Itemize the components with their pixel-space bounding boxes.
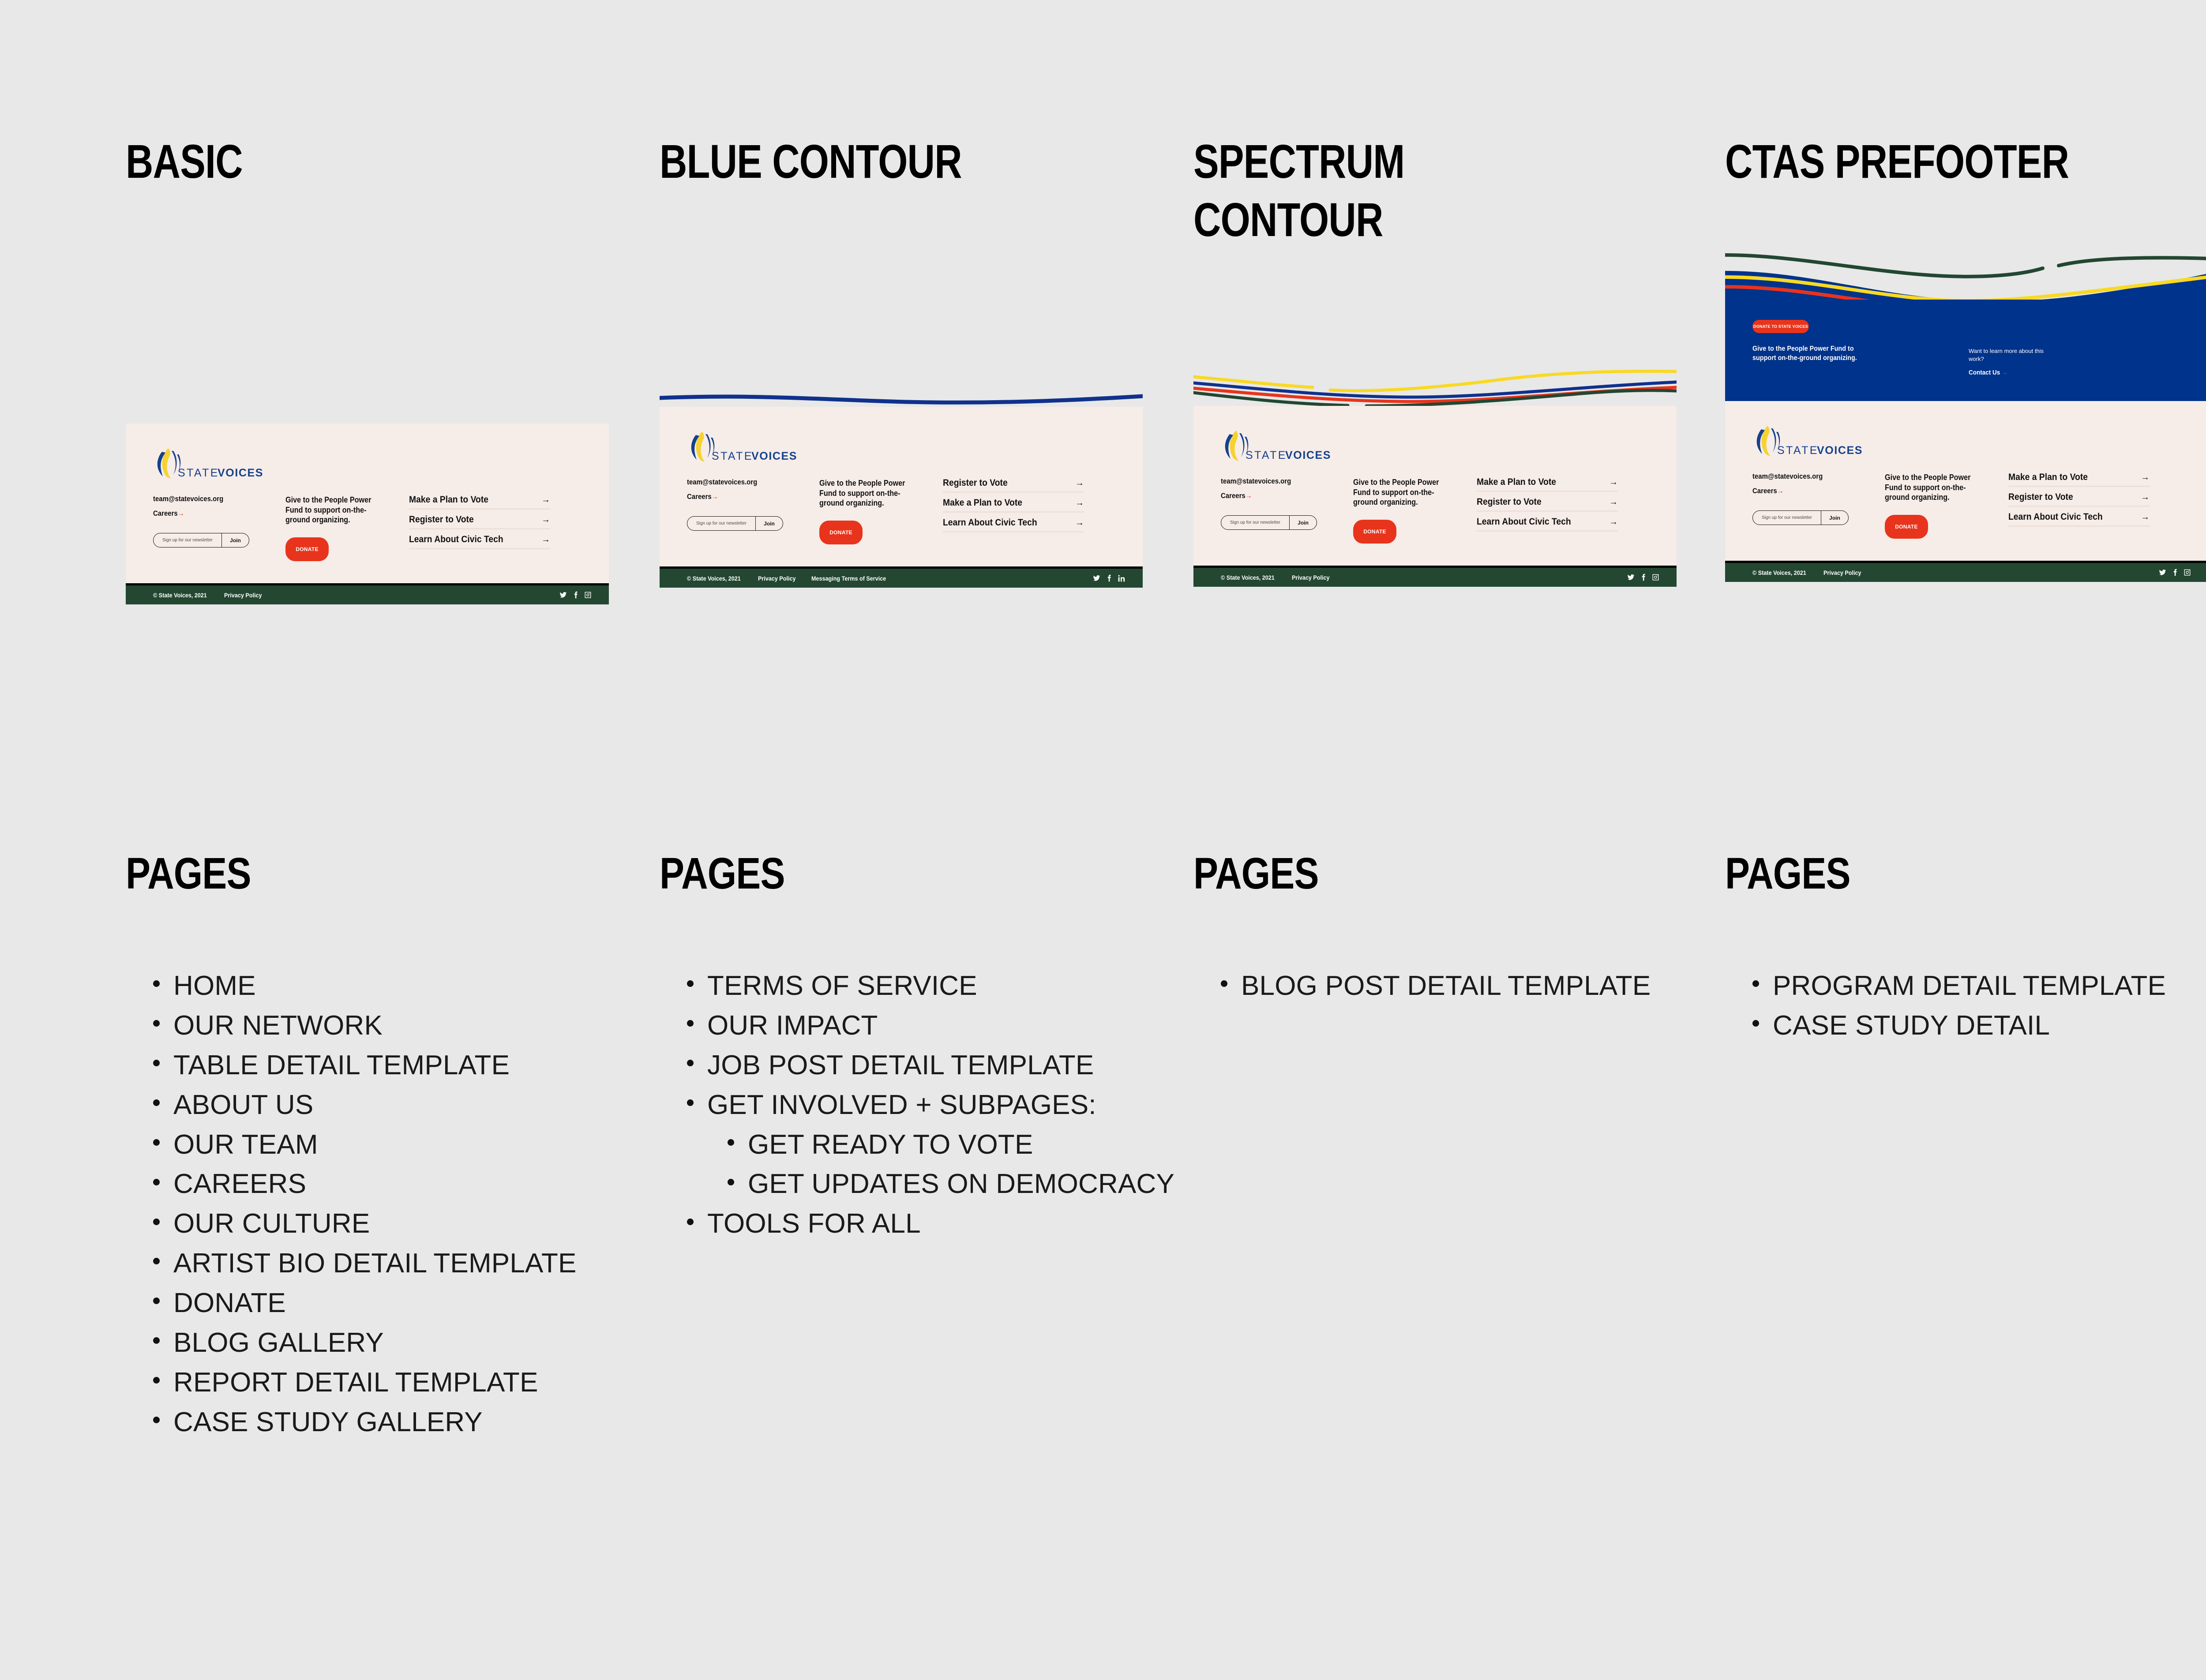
legal-bar: © State Voices, 2021 Privacy Policy Mess… — [660, 566, 1143, 588]
quicklink-label: Learn About Civic Tech — [2008, 512, 2103, 521]
legal-bar: © State Voices, 2021 Privacy Policy — [1193, 566, 1677, 587]
facebook-icon[interactable] — [1641, 574, 1646, 581]
quicklink-label: Learn About Civic Tech — [943, 518, 1037, 527]
list-item-label: REPORT DETAIL TEMPLATE — [173, 1367, 538, 1398]
list-item[interactable]: ARTIST BIO DETAIL TEMPLATE — [173, 1244, 646, 1283]
list-item[interactable]: OUR CULTURE — [173, 1204, 646, 1244]
svg-text:VOICES: VOICES — [1285, 449, 1331, 461]
bullet-icon — [153, 1417, 160, 1423]
contact-column: team@statevoices.org Careers→ Join — [687, 478, 819, 544]
contact-us-label: Contact Us — [1969, 369, 2000, 376]
linkedin-icon[interactable] — [1118, 575, 1125, 582]
donate-blurb: Give to the People Power Fund to support… — [285, 495, 373, 525]
variant-title: BLUE CONTOUR — [660, 132, 1083, 191]
pages-section: PAGES BLOG POST DETAIL TEMPLATE — [1193, 851, 1714, 1006]
quicklink-row[interactable]: Register to Vote → — [1477, 497, 1618, 512]
pages-list: HOME OUR NETWORK TABLE DETAIL TEMPLATE A… — [126, 966, 646, 1442]
footer-mockup: DONATE TO STATE VOICES Give to the Peopl… — [1725, 247, 2206, 582]
facebook-icon[interactable] — [1107, 574, 1112, 582]
footer-columns: team@statevoices.org Careers→ Join Give … — [1193, 471, 1677, 566]
pages-section: PAGES TERMS OF SERVICE OUR IMPACT JOB PO… — [660, 851, 1180, 1244]
contact-email[interactable]: team@statevoices.org — [1752, 472, 1869, 480]
footer-mockup: STATE VOICES team@statevoices.org Career… — [1193, 362, 1677, 587]
list-item-label: CASE STUDY GALLERY — [173, 1407, 483, 1437]
instagram-icon[interactable] — [1652, 574, 1659, 581]
twitter-icon[interactable] — [1093, 574, 1100, 582]
pages-row: PAGES HOME OUR NETWORK TABLE DETAIL TEMP… — [0, 851, 2206, 1557]
twitter-icon[interactable] — [1627, 574, 1635, 581]
twitter-icon[interactable] — [2159, 569, 2166, 576]
list-item[interactable]: BLOG POST DETAIL TEMPLATE — [1241, 966, 1714, 1006]
newsletter-input[interactable] — [687, 517, 755, 530]
bullet-icon — [153, 1099, 160, 1106]
list-item-label: GET INVOLVED + SUBPAGES: — [707, 1090, 1096, 1120]
design-board: BASIC STATE VOICES — [0, 0, 2206, 1680]
list-item[interactable]: ABOUT US — [173, 1085, 646, 1125]
list-item-label: ARTIST BIO DETAIL TEMPLATE — [173, 1248, 577, 1279]
list-item-label: TOOLS FOR ALL — [707, 1208, 921, 1239]
bullet-icon — [1221, 980, 1227, 987]
quicklink-label: Register to Vote — [2008, 492, 2073, 502]
social-links — [559, 591, 591, 599]
quicklink-label: Make a Plan to Vote — [409, 495, 488, 504]
quicklinks-column: Make a Plan to Vote → Register to Vote →… — [1477, 477, 1653, 544]
quicklink-label: Make a Plan to Vote — [943, 498, 1022, 507]
pages-section: PAGES PROGRAM DETAIL TEMPLATE CASE STUDY… — [1725, 851, 2206, 1046]
quicklink-row[interactable]: Register to Vote → — [943, 478, 1084, 493]
list-item[interactable]: JOB POST DETAIL TEMPLATE — [707, 1046, 1180, 1085]
arrow-right-icon: → — [541, 535, 550, 544]
contact-email[interactable]: team@statevoices.org — [1221, 477, 1337, 485]
arrow-right-icon: → — [1609, 478, 1618, 487]
legal-bar: © State Voices, 2021 Privacy Policy — [1725, 561, 2206, 582]
list-item[interactable]: OUR NETWORK — [173, 1006, 646, 1046]
bullet-icon — [687, 1020, 694, 1027]
bullet-icon — [728, 1179, 734, 1185]
blue-contour-line — [660, 392, 1143, 407]
bullet-icon — [153, 1219, 160, 1225]
messaging-terms-link[interactable]: Messaging Terms of Service — [811, 575, 886, 582]
svg-text:VOICES: VOICES — [1817, 444, 1863, 457]
list-item[interactable]: REPORT DETAIL TEMPLATE — [173, 1363, 646, 1402]
list-item[interactable]: TABLE DETAIL TEMPLATE — [173, 1046, 646, 1085]
pages-heading: PAGES — [660, 851, 1097, 896]
privacy-policy-link[interactable]: Privacy Policy — [1292, 574, 1329, 581]
arrow-right-icon: → — [2141, 493, 2150, 502]
careers-link[interactable]: Careers→ — [1752, 487, 1869, 495]
careers-link[interactable]: Careers→ — [153, 510, 270, 517]
variant-title: CTAS PREFOOTER — [1725, 132, 2149, 191]
logo-wrap: STATE VOICES — [660, 407, 1143, 472]
careers-label: Careers — [1221, 491, 1246, 500]
newsletter-input[interactable] — [1753, 511, 1821, 525]
newsletter-input[interactable] — [154, 533, 221, 547]
donate-column: Give to the People Power Fund to support… — [819, 478, 943, 544]
svg-text:STATE: STATE — [712, 450, 753, 462]
donate-button[interactable]: DONATE — [1353, 520, 1396, 544]
quicklinks-column: Register to Vote → Make a Plan to Vote →… — [943, 478, 1119, 544]
cta-blurb: Give to the People Power Fund to support… — [1752, 345, 1872, 363]
svg-text:STATE: STATE — [178, 467, 219, 479]
instagram-icon[interactable] — [2184, 569, 2191, 576]
quicklink-label: Make a Plan to Vote — [2008, 472, 2088, 482]
sublist-item[interactable]: GET UPDATES ON DEMOCRACY — [748, 1164, 1180, 1204]
list-item-label: CAREERS — [173, 1169, 306, 1199]
arrow-right-icon: → — [1609, 498, 1618, 506]
twitter-icon[interactable] — [559, 591, 567, 599]
arrow-right-icon: → — [1075, 499, 1084, 507]
arrow-right-icon: → — [1075, 518, 1084, 527]
quicklink-label: Register to Vote — [409, 515, 474, 524]
privacy-policy-link[interactable]: Privacy Policy — [758, 575, 795, 582]
contact-email[interactable]: team@statevoices.org — [687, 478, 803, 486]
bullet-icon — [1752, 1020, 1759, 1027]
cta-left-column: DONATE TO STATE VOICES Give to the Peopl… — [1752, 320, 1969, 376]
newsletter-join-button[interactable]: Join — [755, 517, 783, 530]
list-item-label: TERMS OF SERVICE — [707, 971, 977, 1001]
arrow-right-icon: → — [1609, 517, 1618, 526]
svg-text:STATE: STATE — [1246, 449, 1287, 461]
footer-body: STATE VOICES team@statevoices.org Career… — [1725, 401, 2206, 561]
bullet-icon — [687, 980, 694, 987]
variant-basic: BASIC STATE VOICES — [126, 0, 655, 688]
list-item-label: OUR NETWORK — [173, 1010, 383, 1041]
footer-body: STATE VOICES team@statevoices.org Career… — [126, 424, 609, 583]
list-item[interactable]: TOOLS FOR ALL — [707, 1204, 1180, 1244]
newsletter-form[interactable]: Join — [1221, 515, 1317, 530]
bullet-icon — [153, 1297, 160, 1304]
list-item[interactable]: CAREERS — [173, 1164, 646, 1204]
social-links — [2159, 569, 2191, 576]
newsletter-input[interactable] — [1221, 516, 1289, 529]
newsletter-join-button[interactable]: Join — [221, 533, 249, 547]
variant-blue-contour: BLUE CONTOUR STATE — [660, 0, 1189, 688]
list-item-label: JOB POST DETAIL TEMPLATE — [707, 1050, 1094, 1080]
contact-column: team@statevoices.org Careers→ Join — [153, 495, 285, 561]
arrow-right-icon: → — [1246, 491, 1252, 500]
arrow-right-icon: → — [1075, 479, 1084, 487]
bullet-icon — [153, 1337, 160, 1344]
contact-column: team@statevoices.org Careers→ Join — [1221, 477, 1353, 544]
list-item[interactable]: CASE STUDY DETAIL — [1773, 1006, 2206, 1046]
legal-links: © State Voices, 2021 Privacy Policy — [153, 592, 266, 599]
privacy-policy-link[interactable]: Privacy Policy — [224, 592, 262, 599]
donate-blurb: Give to the People Power Fund to support… — [1885, 472, 1972, 502]
donate-button[interactable]: DONATE — [285, 537, 329, 561]
arrow-right-icon: → — [2141, 473, 2150, 482]
bullet-icon — [153, 1258, 160, 1264]
arrow-right-icon: → — [541, 495, 550, 504]
cta-question: Want to learn more about this work? — [1969, 347, 2052, 363]
list-item[interactable]: BLOG GALLERY — [173, 1323, 646, 1363]
variant-spectrum-contour: SPECTRUM CONTOUR — [1193, 0, 1723, 688]
quicklink-row[interactable]: Register to Vote → — [2008, 492, 2150, 507]
list-item-label: BLOG GALLERY — [173, 1327, 384, 1358]
arrow-right-icon: → — [2002, 369, 2008, 376]
newsletter-join-button[interactable]: Join — [1821, 511, 1848, 525]
quicklink-label: Learn About Civic Tech — [1477, 517, 1571, 526]
quicklink-row[interactable]: Register to Vote → — [409, 515, 550, 529]
sublist-item[interactable]: GET READY TO VOTE — [748, 1125, 1180, 1165]
pages-heading: PAGES — [1193, 851, 1631, 896]
copyright: © State Voices, 2021 — [153, 592, 207, 599]
quicklink-label: Make a Plan to Vote — [1477, 477, 1556, 487]
variant-title: SPECTRUM CONTOUR — [1193, 132, 1617, 249]
list-item-label: CASE STUDY DETAIL — [1773, 1010, 2050, 1041]
pages-section: PAGES HOME OUR NETWORK TABLE DETAIL TEMP… — [126, 851, 646, 1442]
blue-wave-decoration — [660, 392, 1143, 407]
list-item[interactable]: DONATE — [173, 1283, 646, 1323]
bullet-icon — [153, 1020, 160, 1027]
donate-blurb: Give to the People Power Fund to support… — [819, 478, 907, 508]
spectrum-wave-decoration — [1193, 362, 1677, 406]
quicklink-row[interactable]: Make a Plan to Vote → — [943, 498, 1084, 513]
donate-button[interactable]: DONATE — [819, 521, 863, 544]
footer-mockup: STATE VOICES team@statevoices.org Career… — [126, 424, 609, 604]
variant-ctas-prefooter: CTAS PREFOOTER DONATE TO STATE VOICES — [1725, 0, 2206, 688]
footer-variants-row: BASIC STATE VOICES — [0, 0, 2206, 688]
careers-link[interactable]: Careers→ — [1221, 492, 1337, 499]
quicklink-label: Learn About Civic Tech — [409, 535, 503, 544]
careers-label: Careers — [687, 492, 712, 501]
copyright: © State Voices, 2021 — [1752, 569, 1806, 576]
donate-column: Give to the People Power Fund to support… — [1885, 472, 2008, 539]
cta-donate-button[interactable]: DONATE TO STATE VOICES — [1752, 320, 1809, 333]
arrow-right-icon: → — [2141, 513, 2150, 521]
spectrum-contour-lines — [1193, 362, 1677, 406]
svg-text:VOICES: VOICES — [218, 467, 263, 479]
privacy-policy-link[interactable]: Privacy Policy — [1823, 569, 1861, 576]
legal-links: © State Voices, 2021 Privacy Policy — [1752, 569, 1865, 576]
list-item-label: TABLE DETAIL TEMPLATE — [173, 1050, 510, 1080]
quicklink-label: Register to Vote — [1477, 497, 1542, 506]
facebook-icon[interactable] — [2172, 569, 2178, 576]
logo-wrap: STATE VOICES — [1725, 401, 2206, 466]
pages-list: BLOG POST DETAIL TEMPLATE — [1193, 966, 1714, 1006]
bullet-icon — [153, 1377, 160, 1384]
bullet-icon — [153, 1060, 160, 1066]
footer-body: STATE VOICES team@statevoices.org Career… — [1193, 406, 1677, 566]
legal-bar: © State Voices, 2021 Privacy Policy — [126, 583, 609, 604]
careers-label: Careers — [153, 509, 178, 517]
list-item[interactable]: HOME — [173, 966, 646, 1006]
pages-list: TERMS OF SERVICE OUR IMPACT JOB POST DET… — [660, 966, 1180, 1244]
social-links — [1093, 574, 1125, 582]
sublist-item-label: GET UPDATES ON DEMOCRACY — [748, 1169, 1174, 1199]
svg-text:VOICES: VOICES — [751, 450, 797, 462]
bullet-icon — [153, 1179, 160, 1185]
list-item-label: OUR CULTURE — [173, 1208, 370, 1239]
newsletter-form[interactable]: Join — [1752, 510, 1849, 525]
cta-right-column: Want to learn more about this work? Cont… — [1969, 320, 2136, 376]
statevoices-logo[interactable]: STATE VOICES — [1221, 429, 1331, 461]
statevoices-logo[interactable]: STATE VOICES — [153, 446, 263, 479]
donate-column: Give to the People Power Fund to support… — [1353, 477, 1477, 544]
sublist-item-label: GET READY TO VOTE — [748, 1129, 1033, 1160]
list-item-label: OUR IMPACT — [707, 1010, 878, 1041]
bullet-icon — [153, 1139, 160, 1146]
careers-link[interactable]: Careers→ — [687, 493, 803, 500]
variant-title: BASIC — [126, 132, 549, 191]
quicklink-row[interactable]: Make a Plan to Vote → — [409, 495, 550, 510]
list-item[interactable]: OUR IMPACT — [707, 1006, 1180, 1046]
list-item[interactable]: PROGRAM DETAIL TEMPLATE — [1773, 966, 2206, 1006]
donate-blurb: Give to the People Power Fund to support… — [1353, 477, 1441, 507]
quicklink-row[interactable]: Make a Plan to Vote → — [1477, 477, 1618, 492]
bullet-icon — [687, 1060, 694, 1066]
newsletter-form[interactable]: Join — [687, 516, 783, 531]
legal-links: © State Voices, 2021 Privacy Policy Mess… — [687, 575, 894, 582]
list-item-label: PROGRAM DETAIL TEMPLATE — [1773, 971, 2166, 1001]
newsletter-join-button[interactable]: Join — [1289, 516, 1317, 529]
list-item[interactable]: OUR TEAM — [173, 1125, 646, 1165]
footer-columns: team@statevoices.org Careers→ Join Give … — [126, 489, 609, 583]
quicklinks-column: Make a Plan to Vote → Register to Vote →… — [2008, 472, 2185, 539]
donate-column: Give to the People Power Fund to support… — [285, 495, 409, 561]
arrow-right-icon: → — [541, 515, 550, 524]
footer-mockup: STATE VOICES team@statevoices.org Career… — [660, 392, 1143, 588]
pages-sublist: GET READY TO VOTE GET UPDATES ON DEMOCRA… — [707, 1125, 1180, 1204]
quicklink-row[interactable]: Learn About Civic Tech → — [943, 518, 1084, 532]
ctas-wave-decoration — [1725, 247, 2206, 300]
footer-body: STATE VOICES team@statevoices.org Career… — [660, 407, 1143, 566]
contact-column: team@statevoices.org Careers→ Join — [1752, 472, 1885, 539]
bullet-icon — [728, 1139, 734, 1146]
pages-list: PROGRAM DETAIL TEMPLATE CASE STUDY DETAI… — [1725, 966, 2206, 1046]
bullet-icon — [687, 1099, 694, 1106]
facebook-icon[interactable] — [573, 591, 578, 599]
statevoices-logo[interactable]: STATE VOICES — [1752, 424, 1863, 457]
careers-label: Careers — [1752, 487, 1777, 495]
list-item[interactable]: GET INVOLVED + SUBPAGES: GET READY TO VO… — [707, 1085, 1180, 1204]
bullet-icon — [153, 980, 160, 987]
quicklink-row[interactable]: Learn About Civic Tech → — [409, 535, 550, 549]
legal-links: © State Voices, 2021 Privacy Policy — [1221, 574, 1334, 581]
social-links — [1627, 574, 1659, 581]
quicklink-row[interactable]: Learn About Civic Tech → — [2008, 512, 2150, 527]
logo-wrap: STATE VOICES — [126, 424, 609, 489]
footer-columns: team@statevoices.org Careers→ Join Give … — [660, 472, 1143, 566]
ctas-contour-lines — [1725, 247, 2206, 300]
bullet-icon — [687, 1219, 694, 1225]
arrow-right-icon: → — [178, 509, 184, 517]
newsletter-form[interactable]: Join — [153, 533, 249, 547]
quicklink-label: Register to Vote — [943, 478, 1008, 487]
list-item[interactable]: TERMS OF SERVICE — [707, 966, 1180, 1006]
copyright: © State Voices, 2021 — [1221, 574, 1275, 581]
list-item-label: BLOG POST DETAIL TEMPLATE — [1241, 971, 1651, 1001]
pages-heading: PAGES — [1725, 851, 2162, 896]
donate-button[interactable]: DONATE — [1885, 515, 1928, 539]
arrow-right-icon: → — [712, 492, 718, 501]
pages-heading: PAGES — [126, 851, 563, 896]
list-item-label: DONATE — [173, 1288, 286, 1318]
quicklink-row[interactable]: Make a Plan to Vote → — [2008, 472, 2150, 487]
contact-us-link[interactable]: Contact Us → — [1969, 369, 2120, 376]
list-item-label: ABOUT US — [173, 1090, 313, 1120]
contact-email[interactable]: team@statevoices.org — [153, 495, 270, 502]
copyright: © State Voices, 2021 — [687, 575, 741, 582]
list-item-label: OUR TEAM — [173, 1129, 318, 1160]
logo-wrap: STATE VOICES — [1193, 406, 1677, 471]
list-item-label: HOME — [173, 971, 256, 1001]
statevoices-logo[interactable]: STATE VOICES — [687, 430, 797, 462]
instagram-icon[interactable] — [585, 592, 591, 598]
footer-columns: team@statevoices.org Careers→ Join Give … — [1725, 466, 2206, 561]
arrow-right-icon: → — [1777, 487, 1784, 495]
bullet-icon — [1752, 980, 1759, 987]
cta-prefooter-panel: DONATE TO STATE VOICES Give to the Peopl… — [1725, 300, 2206, 401]
cta-inner: DONATE TO STATE VOICES Give to the Peopl… — [1752, 320, 2176, 376]
list-item[interactable]: CASE STUDY GALLERY — [173, 1402, 646, 1442]
quicklink-row[interactable]: Learn About Civic Tech → — [1477, 517, 1618, 532]
svg-text:STATE: STATE — [1777, 444, 1819, 457]
quicklinks-column: Make a Plan to Vote → Register to Vote →… — [409, 495, 585, 561]
